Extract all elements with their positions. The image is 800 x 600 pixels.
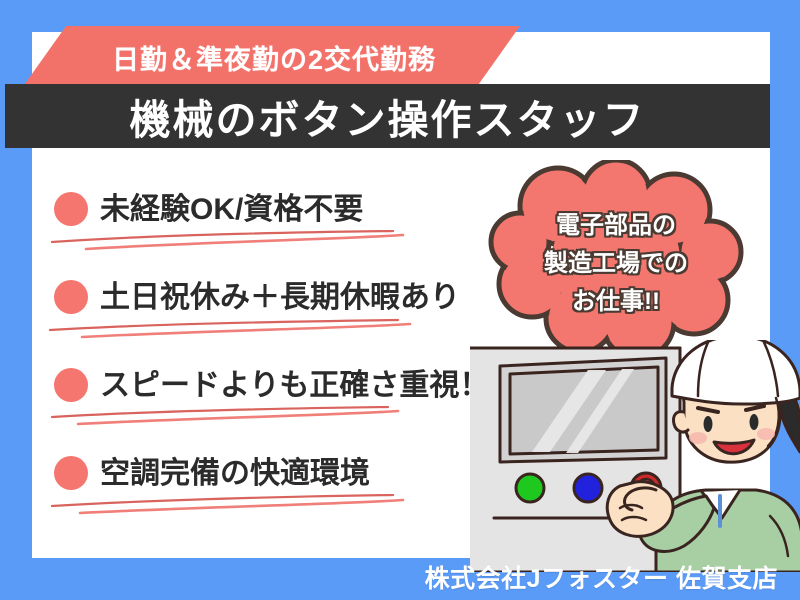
bullet-label: 土日祝休み＋長期休暇あり: [100, 272, 460, 316]
worker-machine-illustration: [470, 340, 800, 572]
poster-canvas: 日勤＆準夜勤の2交代勤務 機械のボタン操作スタッフ 未経験OK/資格不要 土日祝…: [0, 0, 800, 600]
bullet-dot-icon: [54, 192, 88, 226]
ribbon-shape: 日勤＆準夜勤の2交代勤務: [22, 26, 520, 88]
underline-stroke-icon: [48, 494, 488, 518]
benefits-list: 未経験OK/資格不要 土日祝休み＋長期休暇あり スピードよりも正確さ重視！: [48, 182, 518, 534]
footer-bar: 株式会社Jフォスター 佐賀支店: [0, 558, 800, 596]
bullet-dot-icon: [54, 280, 88, 314]
bullet-dot-icon: [54, 368, 88, 402]
bullet-label: 空調完備の快適環境: [100, 448, 370, 492]
page-title: 機械のボタン操作スタッフ: [130, 86, 646, 146]
underline-stroke-icon: [48, 406, 488, 430]
bullet-label: 未経験OK/資格不要: [100, 184, 363, 228]
ribbon-label: 日勤＆準夜勤の2交代勤務: [22, 26, 520, 88]
cloud-shape-icon: [488, 160, 744, 360]
illustration-svg: [470, 340, 800, 572]
bullet-label: スピードよりも正確さ重視！: [100, 360, 489, 404]
list-item: 土日祝休み＋長期休暇あり: [48, 270, 518, 358]
list-item: 空調完備の快適環境: [48, 446, 518, 534]
speech-bubble: 電子部品の 製造工場での お仕事!!: [488, 160, 744, 360]
ribbon-banner: 日勤＆準夜勤の2交代勤務: [0, 26, 520, 88]
bullet-dot-icon: [54, 456, 88, 490]
company-name: 株式会社Jフォスター 佐賀支店: [425, 559, 778, 595]
underline-stroke-icon: [48, 318, 488, 342]
list-item: 未経験OK/資格不要: [48, 182, 518, 270]
headline-band: 機械のボタン操作スタッフ: [5, 84, 770, 148]
list-item: スピードよりも正確さ重視！: [48, 358, 518, 446]
underline-stroke-icon: [48, 230, 488, 254]
